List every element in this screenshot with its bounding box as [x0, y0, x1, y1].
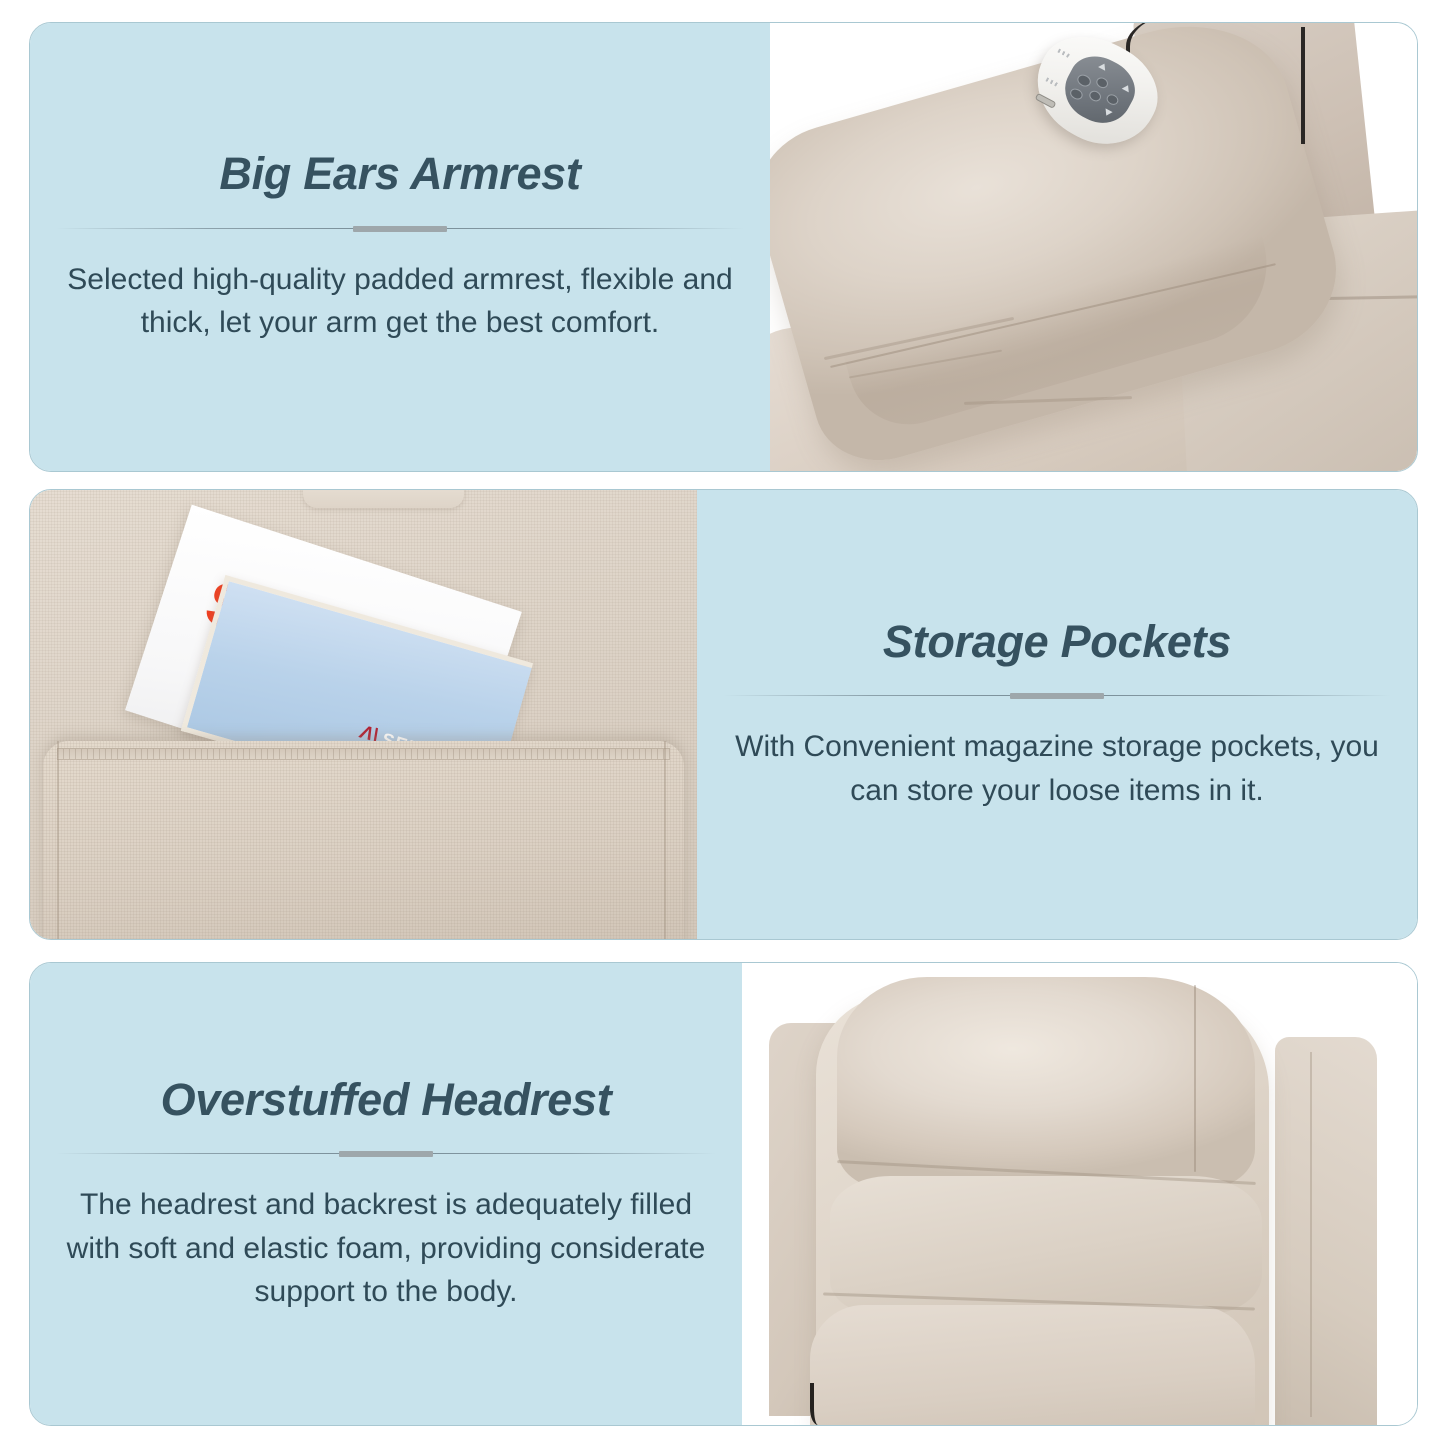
panel-description-1: Selected high-quality padded armrest, fl… [56, 258, 744, 345]
feature-panel-storage-pockets: S Λ\ SENCHUAN 08 Storage Pockets [29, 489, 1418, 940]
feature-panel-overstuffed-headrest: Overstuffed Headrest The headrest and ba… [29, 962, 1418, 1426]
fabric-flap [303, 490, 463, 508]
armrest-pillow-with-remote-photo [770, 23, 1417, 471]
product-feature-infographic: Big Ears Armrest Selected high-quality p… [0, 0, 1445, 1445]
feature-panel-big-ears-armrest: Big Ears Armrest Selected high-quality p… [29, 22, 1418, 472]
remote-indicator-dots [1046, 78, 1060, 88]
pocket-stitched-hem [57, 748, 671, 760]
panel-title-2: Storage Pockets [883, 617, 1231, 667]
divider-center-nub [339, 1151, 433, 1157]
remote-mode-button [1095, 75, 1111, 90]
panel-title-1: Big Ears Armrest [219, 149, 580, 199]
recliner-right-wing [1275, 1037, 1376, 1425]
recliner-lumbar-cushion [830, 1176, 1262, 1315]
title-divider-1 [56, 225, 744, 232]
divider-center-nub [353, 226, 447, 232]
remote-heat-button [1068, 87, 1084, 102]
feature-text-block-3: Overstuffed Headrest The headrest and ba… [30, 963, 742, 1425]
pocket-side-seam [57, 741, 59, 939]
overstuffed-headrest-backrest-photo [742, 963, 1417, 1425]
feature-text-block-2: Storage Pockets With Convenient magazine… [697, 490, 1417, 939]
arrow-down-icon [1103, 108, 1113, 117]
divider-center-nub [1010, 693, 1104, 699]
power-cord-right [1301, 27, 1366, 143]
title-divider-2 [723, 692, 1391, 699]
remote-timer-button [1105, 92, 1121, 107]
recliner-scene [742, 963, 1417, 1425]
storage-pocket-with-magazines-photo: S Λ\ SENCHUAN 08 [30, 490, 697, 939]
remote-power-button [1076, 72, 1093, 88]
panel-title-3: Overstuffed Headrest [161, 1075, 612, 1125]
title-divider-3 [56, 1150, 716, 1157]
pocket-side-seam [664, 741, 666, 939]
remote-indicator-dots [1057, 48, 1071, 58]
feature-text-block-1: Big Ears Armrest Selected high-quality p… [30, 23, 770, 471]
remote-speed-button [1088, 89, 1104, 104]
recline-arrow-icon [1122, 83, 1132, 92]
power-cord [810, 1383, 830, 1425]
pocket-front-panel [43, 741, 683, 939]
remote-button-pad [1055, 46, 1145, 134]
pocket-fabric-scene: S Λ\ SENCHUAN 08 [30, 490, 697, 939]
arrow-up-icon [1099, 62, 1109, 71]
panel-description-3: The headrest and backrest is adequately … [56, 1183, 716, 1314]
panel-description-2: With Convenient magazine storage pockets… [723, 725, 1391, 812]
recliner-seat-cushion [810, 1305, 1256, 1425]
recliner-headrest-cushion [837, 977, 1256, 1190]
armrest-scene [770, 23, 1417, 471]
